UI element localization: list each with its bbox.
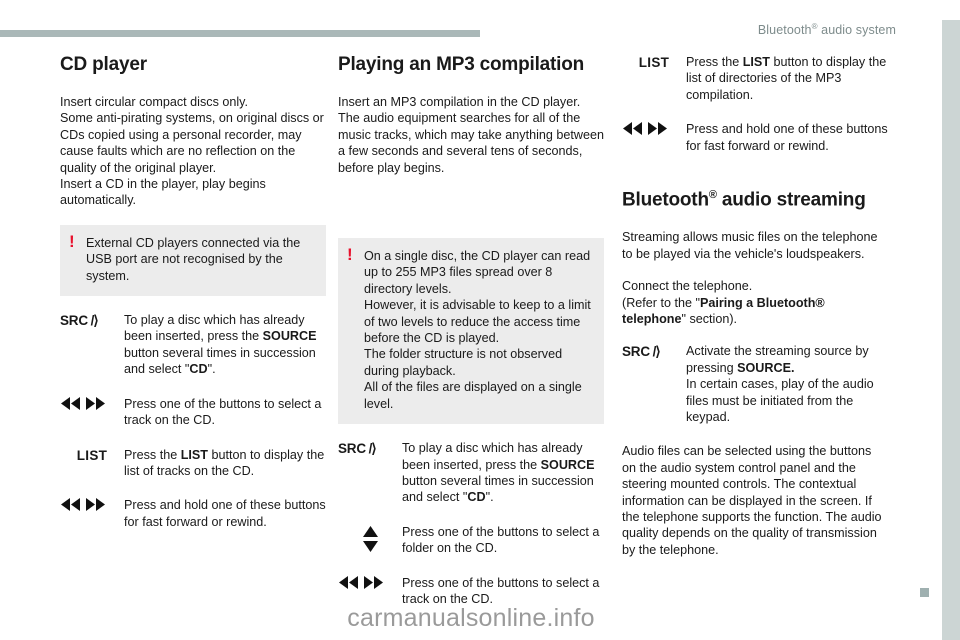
column-bluetooth-streaming: LIST Press the LIST button to display th…: [622, 54, 888, 574]
rewind-icon: [338, 576, 360, 589]
fast-forward-icon: [84, 498, 106, 511]
fast-forward-icon: [362, 576, 384, 589]
mp3-warning-note: ! On a single disc, the CD player can re…: [338, 238, 604, 424]
instruction-row-cd-source: SRC /⟩ To play a disc which has already …: [60, 312, 326, 378]
instruction-row-mp3-track-select: Press one of the buttons to select a tra…: [338, 575, 604, 608]
instruction-text-mp3-track-select: Press one of the buttons to select a tra…: [402, 575, 604, 608]
page-title-bluetooth-streaming: Bluetooth® audio streaming: [622, 184, 888, 211]
list-button-icon[interactable]: LIST: [60, 447, 124, 463]
page-right-rail: [942, 20, 960, 640]
header-title-rest: audio system: [818, 23, 896, 37]
page-header-title: Bluetooth® audio system: [758, 22, 896, 37]
column-cd-player: CD player Insert circular compact discs …: [60, 54, 326, 548]
header-accent-rule: [0, 30, 480, 37]
page-corner-marker: [920, 588, 929, 597]
bt-title-registered-mark: ®: [709, 189, 717, 201]
instruction-text-cd-source: To play a disc which has already been in…: [124, 312, 326, 378]
bt-title-rest: audio streaming: [717, 189, 866, 210]
fast-forward-rewind-icon[interactable]: [622, 121, 686, 135]
arrow-down-icon: [363, 541, 378, 552]
src-icon-label: SRC: [622, 344, 650, 359]
header-title-main: Bluetooth: [758, 23, 812, 37]
page-title-mp3-compilation: Playing an MP3 compilation: [338, 54, 604, 76]
list-icon-label: LIST: [639, 55, 669, 70]
instruction-row-bt-activate-source: SRC /⟩ Activate the streaming source by …: [622, 343, 888, 425]
mp3-warning-text: On a single disc, the CD player can read…: [364, 249, 591, 411]
up-down-arrows-icon[interactable]: [338, 524, 402, 552]
column2-spacer: [338, 192, 604, 238]
list-icon-label: LIST: [77, 448, 107, 463]
arrow-up-icon: [363, 526, 378, 537]
bt-title-main: Bluetooth: [622, 189, 709, 210]
mp3-intro-text: Insert an MP3 compilation in the CD play…: [338, 94, 604, 176]
bt-audio-files-text: Audio files can be selected using the bu…: [622, 443, 888, 558]
instruction-text-cd-track-select: Press one of the buttons to select a tra…: [124, 396, 326, 429]
instruction-text-mp3-source: To play a disc which has already been in…: [402, 440, 604, 506]
instruction-text-mp3-fastforward: Press and hold one of these buttons for …: [686, 121, 888, 154]
instruction-text-mp3-folder-select: Press one of the buttons to select a fol…: [402, 524, 604, 557]
cd-player-intro-text: Insert circular compact discs only.Some …: [60, 94, 326, 209]
instruction-row-mp3-folder-select: Press one of the buttons to select a fol…: [338, 524, 604, 557]
cd-player-warning-text: External CD players connected via the US…: [86, 236, 300, 283]
src-source-button-icon[interactable]: SRC /⟩: [338, 440, 402, 456]
src-source-button-icon[interactable]: SRC /⟩: [60, 312, 124, 328]
src-source-button-icon[interactable]: SRC /⟩: [622, 343, 686, 359]
instruction-row-mp3-list: LIST Press the LIST button to display th…: [622, 54, 888, 103]
instruction-row-cd-track-select: Press one of the buttons to select a tra…: [60, 396, 326, 429]
fast-forward-rewind-icon[interactable]: [338, 575, 402, 589]
warning-exclamation-icon: !: [347, 247, 357, 262]
cd-player-warning-note: ! External CD players connected via the …: [60, 225, 326, 296]
page-title-cd-player: CD player: [60, 54, 326, 76]
fast-forward-icon: [646, 122, 668, 135]
instruction-text-cd-fastforward: Press and hold one of these buttons for …: [124, 497, 326, 530]
instruction-row-cd-list: LIST Press the LIST button to display th…: [60, 447, 326, 480]
instruction-row-cd-fastforward: Press and hold one of these buttons for …: [60, 497, 326, 530]
src-icon-label: SRC: [338, 441, 366, 456]
column-mp3-compilation: Playing an MP3 compilation Insert an MP3…: [338, 54, 604, 625]
rewind-icon: [60, 498, 82, 511]
rewind-icon: [622, 122, 644, 135]
bt-streaming-intro-text: Streaming allows music files on the tele…: [622, 229, 888, 262]
warning-exclamation-icon: !: [69, 234, 79, 249]
list-button-icon[interactable]: LIST: [622, 54, 686, 70]
fast-forward-rewind-icon[interactable]: [60, 497, 124, 511]
src-icon-label: SRC: [60, 313, 88, 328]
fast-forward-icon: [84, 397, 106, 410]
bt-connect-telephone-text: Connect the telephone.(Refer to the "Pai…: [622, 278, 888, 327]
instruction-row-mp3-source: SRC /⟩ To play a disc which has already …: [338, 440, 604, 506]
instruction-text-mp3-list: Press the LIST button to display the lis…: [686, 54, 888, 103]
fast-forward-rewind-icon[interactable]: [60, 396, 124, 410]
instruction-row-mp3-fastforward: Press and hold one of these buttons for …: [622, 121, 888, 154]
instruction-text-cd-list: Press the LIST button to display the lis…: [124, 447, 326, 480]
instruction-text-bt-activate-source: Activate the streaming source by pressin…: [686, 343, 888, 425]
rewind-icon: [60, 397, 82, 410]
